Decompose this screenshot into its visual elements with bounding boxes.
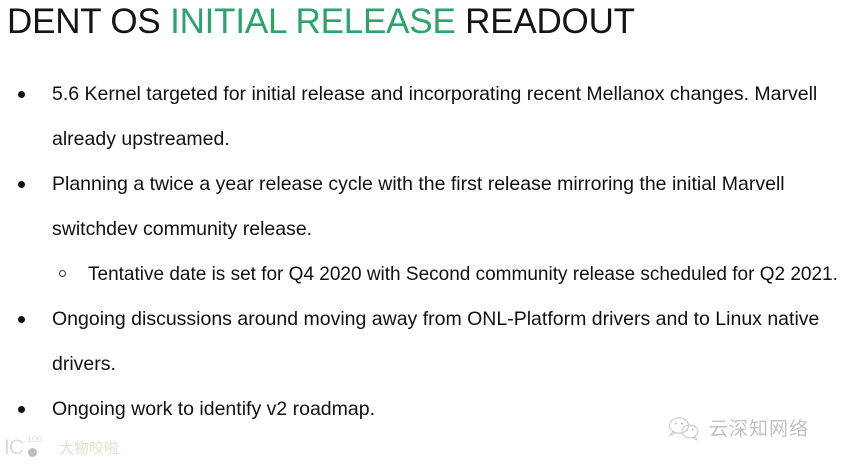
sub-list-item: Tentative date is set for Q4 2020 with S…: [0, 252, 843, 297]
bullet-disc-icon: [18, 181, 25, 188]
list-item: 5.6 Kernel targeted for initial release …: [0, 72, 843, 162]
list-item-text: Ongoing discussions around moving away f…: [52, 297, 842, 387]
bullet-circle-icon: [59, 270, 66, 277]
list-item-text: 5.6 Kernel targeted for initial release …: [52, 72, 842, 162]
ic-logo-text: IC: [4, 437, 23, 459]
page-title: DENT OS INITIAL RELEASE READOUT: [7, 0, 837, 46]
watermark-bottom-left-text: 大物咬啦: [59, 439, 119, 457]
list-item: Planning a twice a year release cycle wi…: [0, 162, 843, 252]
bullet-list: 5.6 Kernel targeted for initial release …: [0, 72, 843, 432]
title-segment-plain-2: READOUT: [456, 2, 635, 41]
bullet-disc-icon: [18, 316, 25, 323]
bullet-disc-icon: [18, 406, 25, 413]
list-item: Ongoing work to identify v2 roadmap.: [0, 387, 843, 432]
ic-logo-dot-icon: [28, 448, 37, 457]
title-segment-plain-1: DENT OS: [7, 2, 170, 41]
title-segment-accent: INITIAL RELEASE: [170, 2, 456, 41]
list-item-text: Ongoing work to identify v2 roadmap.: [52, 387, 842, 432]
slide-canvas: DENT OS INITIAL RELEASE READOUT 5.6 Kern…: [0, 0, 843, 469]
list-item-text: Planning a twice a year release cycle wi…: [52, 162, 842, 252]
sub-list-item-text: Tentative date is set for Q4 2020 with S…: [88, 252, 843, 297]
bullet-disc-icon: [18, 91, 25, 98]
watermark-bottom-left: IC 100 大物咬啦: [4, 430, 130, 466]
ic-logo-icon: IC 100: [4, 435, 56, 461]
ic-logo-superscript: 100: [27, 435, 42, 444]
list-item: Ongoing discussions around moving away f…: [0, 297, 843, 387]
